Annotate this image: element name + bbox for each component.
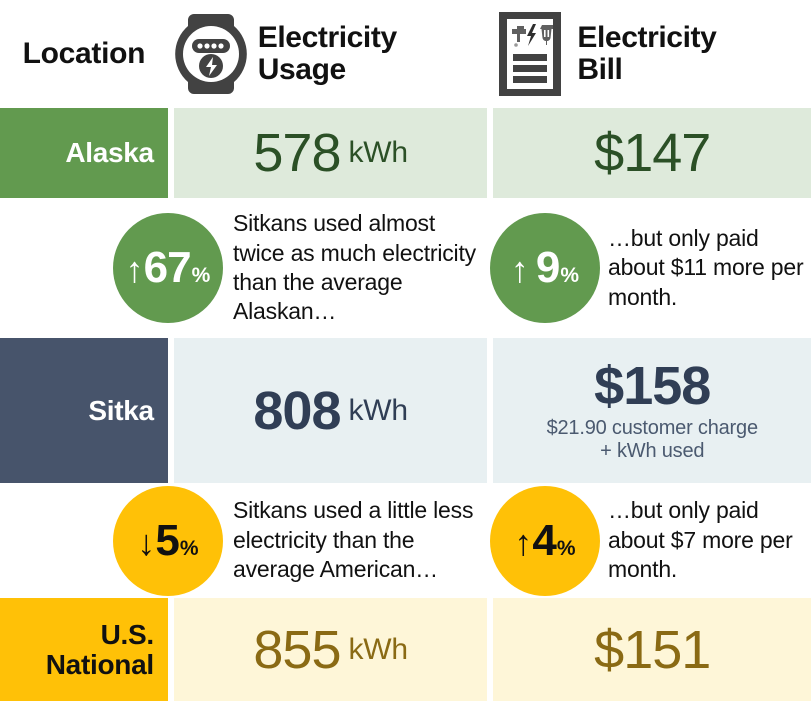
header-usage-title-line2: Usage (258, 53, 346, 86)
header-usage-cell: Electricity Usage (174, 0, 488, 108)
us-bill-value: $151 (594, 623, 710, 677)
header-bill-title: Electricity Bill (577, 22, 716, 87)
cell-us-usage: 855 kWh (174, 598, 488, 701)
comparison-vs-alaska-bill-text: …but only paid about $11 more per month. (608, 224, 811, 312)
row-label-us-national: U.S. National (0, 598, 168, 701)
row-label-us-line2: National (46, 649, 154, 680)
comparison-row-vs-us: ↓ 5 % Sitkans used a little less electri… (0, 483, 811, 598)
us-usage-unit: kWh (348, 633, 407, 667)
page-title: Location (23, 37, 146, 71)
header-usage-title-line1: Electricity (258, 21, 397, 54)
alaska-usage-value: 578 (253, 126, 340, 180)
us-usage-value: 855 (253, 623, 340, 677)
arrow-up-icon: ↑ (514, 525, 532, 561)
utility-bill-icon (493, 8, 567, 100)
cell-us-bill: $151 (493, 598, 811, 701)
comparison-spacer-left (0, 198, 113, 338)
header-usage-title: Electricity Usage (258, 22, 397, 87)
sitka-bill-note-line2: + kWh used (600, 440, 704, 463)
badge-bill-vs-alaska-pct: % (560, 265, 579, 286)
row-label-alaska: Alaska (0, 108, 168, 198)
badge-bill-vs-alaska: ↑ 9 % (490, 213, 600, 323)
comparison-vs-us-bill-text: …but only paid about $7 more per month. (608, 496, 811, 584)
row-label-us-line1: U.S. (101, 619, 154, 650)
badge-bill-vs-us: ↑ 4 % (490, 486, 600, 596)
row-label-sitka: Sitka (0, 338, 168, 483)
badge-bill-vs-us-pct: % (557, 538, 576, 559)
table-row-sitka: Sitka 808 kWh $158 $21.90 customer charg… (0, 338, 811, 483)
badge-usage-vs-us-pct: % (180, 538, 199, 559)
table-row-us-national: U.S. National 855 kWh $151 (0, 598, 811, 701)
header-location-cell: Location (0, 0, 168, 108)
alaska-bill-value: $147 (594, 126, 710, 180)
cell-alaska-usage: 578 kWh (174, 108, 488, 198)
table-row-alaska: Alaska 578 kWh $147 (0, 108, 811, 198)
badge-usage-vs-us-value: 5 (155, 519, 178, 563)
electric-meter-icon (174, 8, 248, 100)
badge-bill-vs-alaska-value: 9 (536, 246, 559, 290)
alaska-usage-unit: kWh (348, 136, 407, 170)
badge-usage-vs-alaska: ↑ 67 % (113, 213, 223, 323)
row-label-us-national-text: U.S. National (46, 620, 154, 679)
sitka-bill-note-line1: $21.90 customer charge (547, 417, 758, 440)
header-bill-title-line2: Bill (577, 53, 622, 86)
sitka-bill-value: $158 (594, 359, 710, 413)
badge-usage-vs-alaska-pct: % (192, 265, 211, 286)
header-bill-title-line1: Electricity (577, 21, 716, 54)
cell-alaska-bill: $147 (493, 108, 811, 198)
cell-sitka-usage: 808 kWh (174, 338, 488, 483)
badge-usage-vs-alaska-value: 67 (144, 246, 191, 290)
badge-usage-vs-us: ↓ 5 % (113, 486, 223, 596)
comparison-spacer-left-2 (0, 483, 113, 598)
comparison-vs-us-usage: ↓ 5 % Sitkans used a little less electri… (113, 483, 490, 598)
comparison-vs-alaska-bill: ↑ 9 % …but only paid about $11 more per … (490, 198, 811, 338)
sitka-usage-value: 808 (253, 384, 340, 438)
comparison-vs-us-usage-text: Sitkans used a little less electricity t… (233, 496, 490, 584)
header-row: Location Electricity Usage (0, 0, 811, 108)
row-label-sitka-text: Sitka (88, 396, 153, 425)
arrow-up-icon: ↑ (126, 252, 144, 288)
cell-sitka-bill: $158 $21.90 customer charge + kWh used (493, 338, 811, 483)
electricity-comparison-infographic: Location Electricity Usage (0, 0, 811, 701)
comparison-row-vs-alaska: ↑ 67 % Sitkans used almost twice as much… (0, 198, 811, 338)
comparison-vs-us-bill: ↑ 4 % …but only paid about $7 more per m… (490, 483, 811, 598)
sitka-usage-unit: kWh (348, 394, 407, 428)
comparison-vs-alaska-usage: ↑ 67 % Sitkans used almost twice as much… (113, 198, 490, 338)
arrow-down-icon: ↓ (137, 525, 155, 561)
arrow-up-icon: ↑ (511, 252, 529, 288)
badge-bill-vs-us-value: 4 (532, 519, 555, 563)
comparison-vs-alaska-usage-text: Sitkans used almost twice as much electr… (233, 209, 490, 327)
header-bill-cell: Electricity Bill (493, 0, 811, 108)
row-label-alaska-text: Alaska (65, 138, 154, 167)
